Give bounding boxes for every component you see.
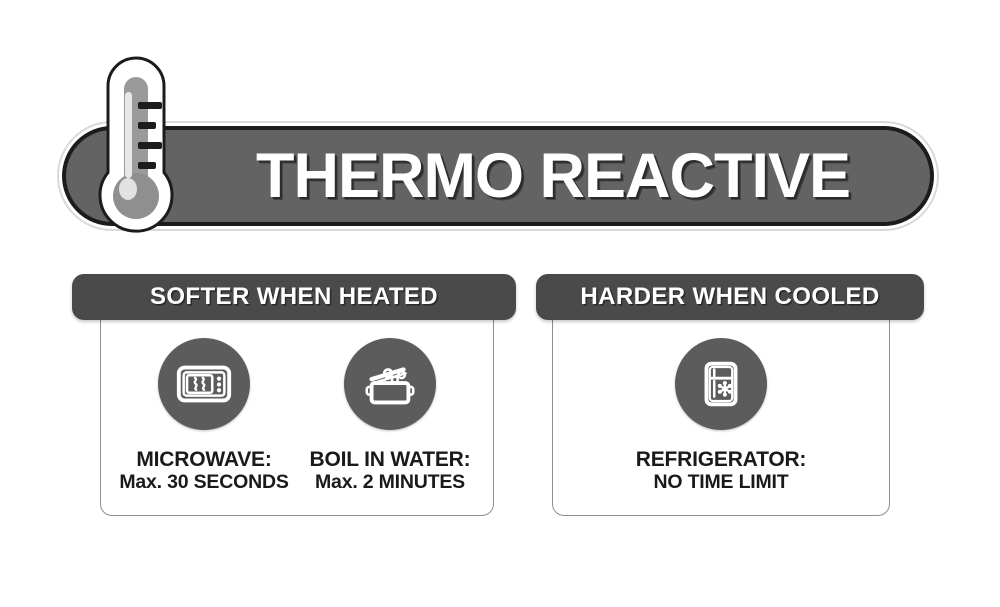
caption-boil-in-water: BOIL IN WATER: Max. 2 MINUTES [310,448,471,493]
caption-title: MICROWAVE: [119,448,288,472]
thermo-reactive-banner: THERMO REACTIVE [62,126,934,226]
caption-refrigerator: REFRIGERATOR: NO TIME LIMIT [636,448,806,493]
infographic-root: THERMO REACTIVE SOFTER WHEN HEATED [0,0,1000,607]
item-refrigerator: REFRIGERATOR: NO TIME LIMIT [571,338,871,493]
card-items-softer-when-heated: MICROWAVE: Max. 30 SECONDS [100,338,494,493]
refrigerator-icon [675,338,767,430]
caption-detail: Max. 30 SECONDS [119,472,288,494]
caption-microwave: MICROWAVE: Max. 30 SECONDS [119,448,288,493]
card-header-softer-when-heated: SOFTER WHEN HEATED [72,274,516,320]
card-items-harder-when-cooled: REFRIGERATOR: NO TIME LIMIT [552,338,890,493]
card-header-harder-when-cooled: HARDER WHEN COOLED [536,274,924,320]
thermometer-icon [78,56,182,242]
banner-title: THERMO REACTIVE [62,126,934,226]
caption-title: BOIL IN WATER: [310,448,471,472]
item-microwave: MICROWAVE: Max. 30 SECONDS [111,338,297,493]
caption-title: REFRIGERATOR: [636,448,806,472]
caption-detail: NO TIME LIMIT [636,472,806,494]
pot-icon [344,338,436,430]
item-boil-in-water: BOIL IN WATER: Max. 2 MINUTES [297,338,483,493]
microwave-icon [158,338,250,430]
caption-detail: Max. 2 MINUTES [310,472,471,494]
